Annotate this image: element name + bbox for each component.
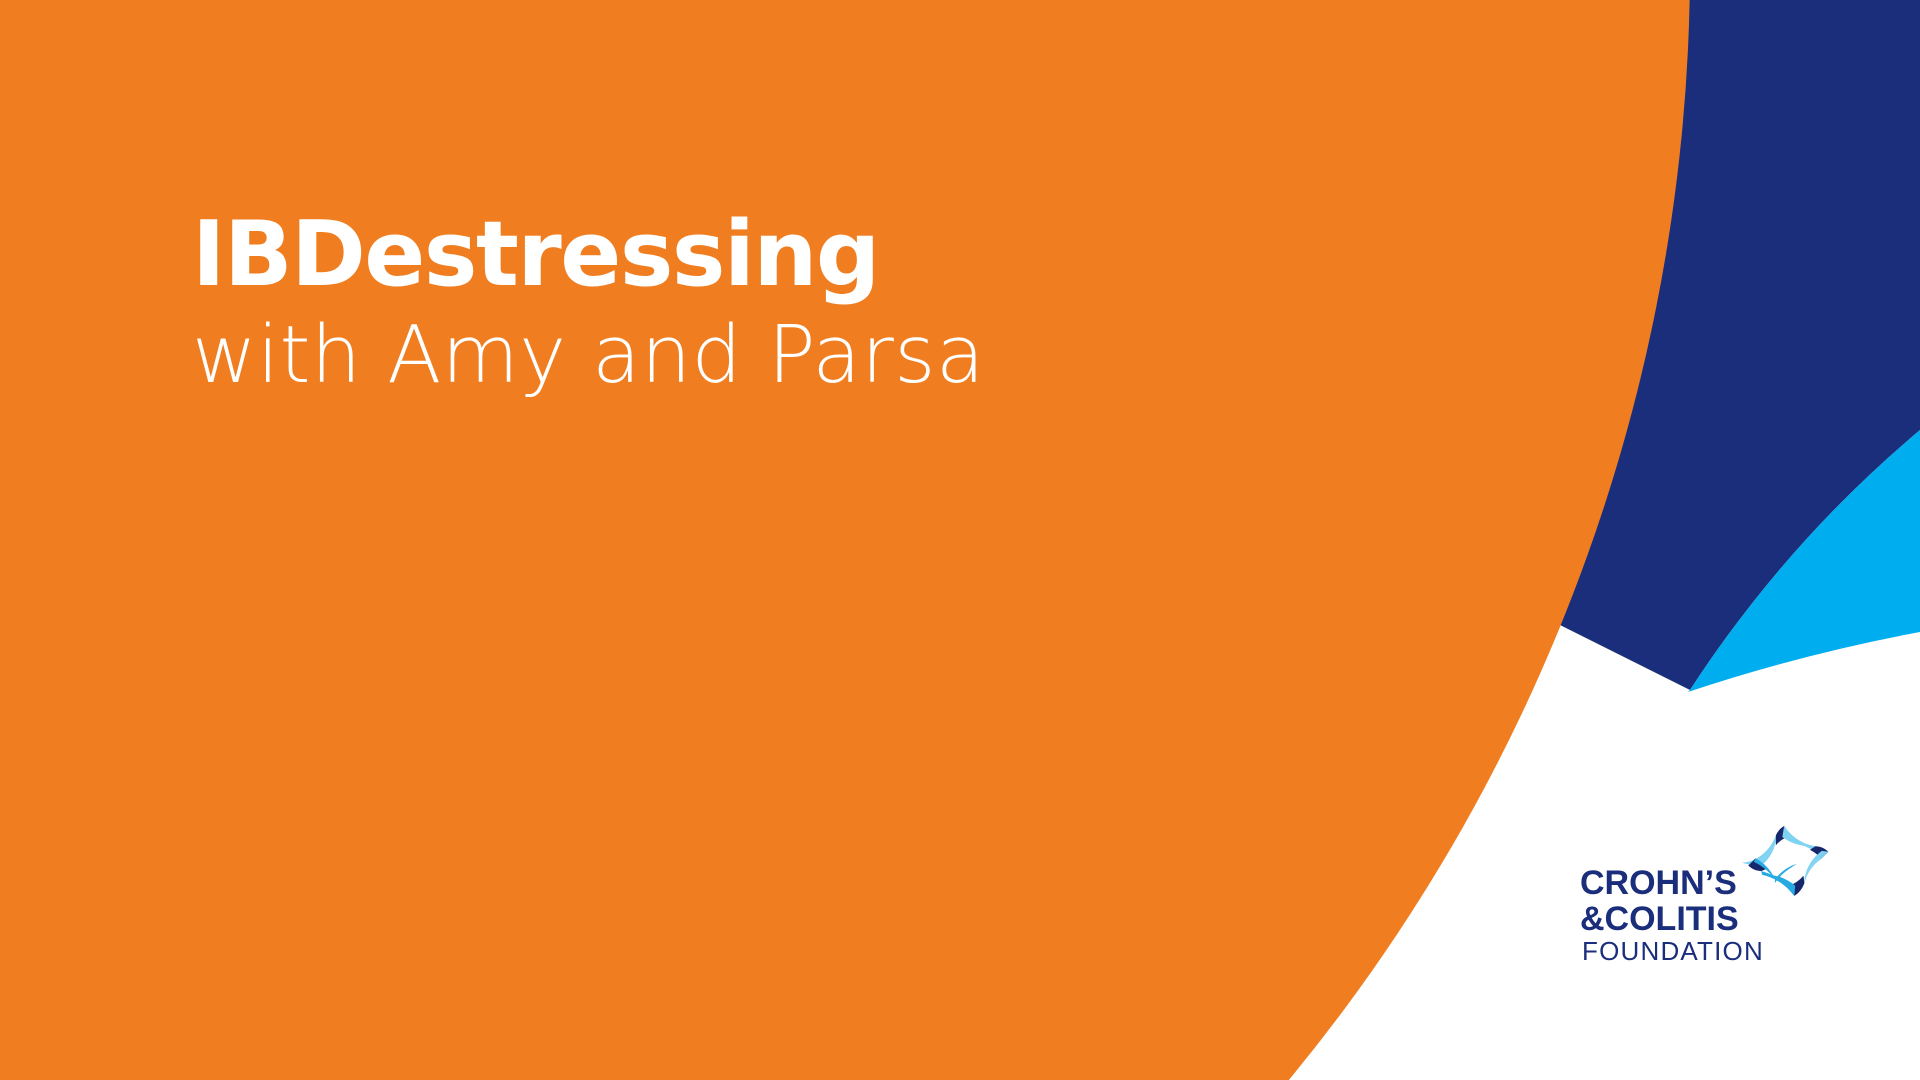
page-title: IBDestressing bbox=[192, 208, 1192, 302]
logo-line-colitis: &COLITIS bbox=[1580, 900, 1739, 938]
title-block: IBDestressing with Amy and Parsa bbox=[192, 208, 1192, 397]
crohns-and-colitis-foundation-logo: CROHN’S &COLITIS FOUNDATION bbox=[1580, 820, 1830, 980]
logo-line-foundation: FOUNDATION bbox=[1582, 936, 1764, 966]
logo-svg: CROHN’S &COLITIS FOUNDATION bbox=[1580, 820, 1830, 980]
title-slide: IBDestressing with Amy and Parsa bbox=[0, 0, 1920, 1080]
logo-line-crohns: CROHN’S bbox=[1580, 864, 1737, 902]
page-subtitle: with Amy and Parsa bbox=[192, 314, 1192, 397]
four-pointed-star-icon bbox=[1742, 826, 1828, 896]
